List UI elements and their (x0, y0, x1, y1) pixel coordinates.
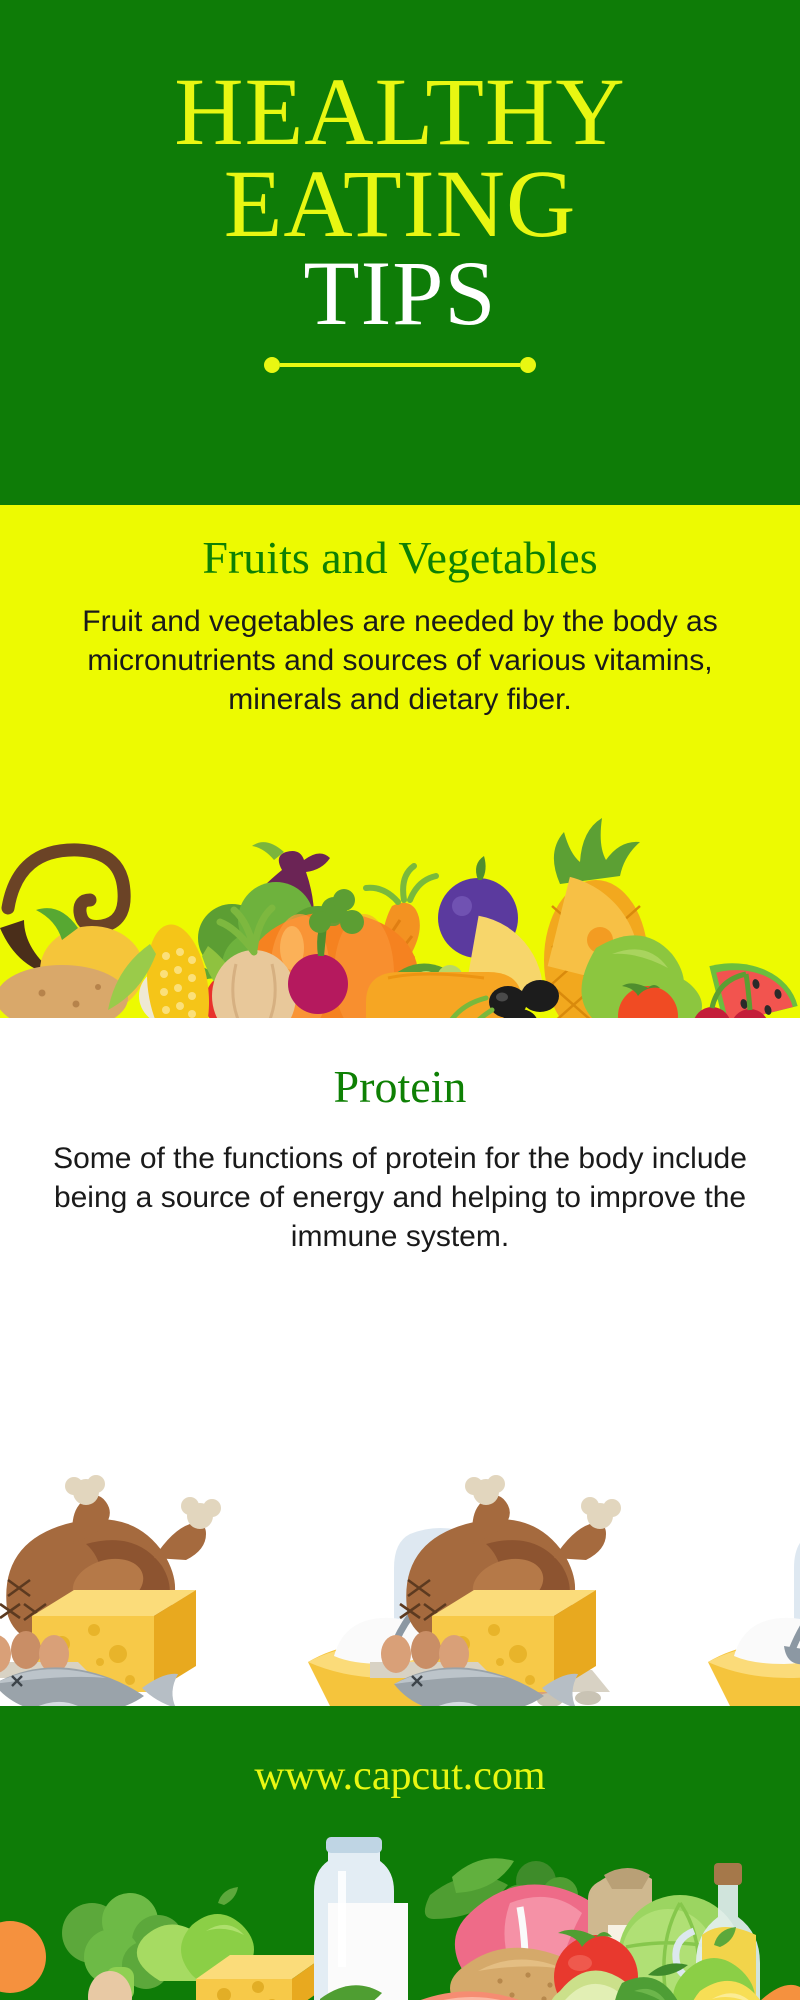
page-title-line-1: HEALTHY (174, 68, 625, 156)
protein-illustration (0, 1448, 800, 1708)
section-fruits-and-vegetables: Fruits and Vegetables Fruit and vegetabl… (0, 505, 800, 1018)
section-protein: Protein Some of the functions of protein… (0, 1018, 800, 1708)
page-title-line-2: EATING (224, 160, 577, 248)
footer-food-illustration (0, 1785, 800, 2000)
page-title-line-3: TIPS (303, 251, 496, 336)
divider-dot-left (264, 357, 280, 373)
section-heading-fruits-and-vegetables: Fruits and Vegetables (0, 531, 800, 584)
poster-header: HEALTHY EATING TIPS (0, 0, 800, 505)
section-body-fruits-and-vegetables: Fruit and vegetables are needed by the b… (0, 602, 800, 719)
divider-dot-right (520, 357, 536, 373)
poster-footer: www.capcut.com (0, 1708, 800, 2000)
infographic-poster: HEALTHY EATING TIPS Fruits and Vegetable… (0, 0, 800, 2000)
divider-bar (280, 363, 520, 367)
dot-line-dot-divider-icon (264, 357, 536, 373)
vegetables-illustration (0, 788, 800, 1018)
section-heading-protein: Protein (0, 1060, 800, 1113)
section-body-protein: Some of the functions of protein for the… (0, 1139, 800, 1256)
